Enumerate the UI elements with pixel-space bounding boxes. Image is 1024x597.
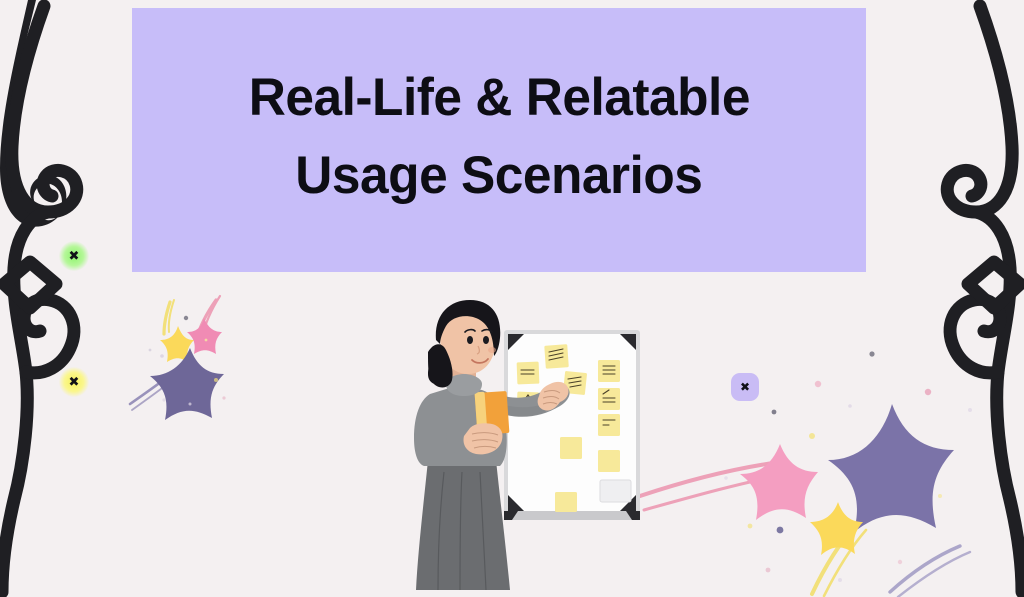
- sparkle-badge-purple: ✖: [731, 373, 759, 401]
- poster-canvas: Real-Life & Relatable Usage Scenarios: [0, 0, 1024, 597]
- ornamental-swirl-divider-right: [904, 0, 1024, 597]
- sparkle-badge-green: ✖: [59, 241, 89, 271]
- sparkle-badge-yellow: ✖: [59, 367, 89, 397]
- title-banner: Real-Life & Relatable Usage Scenarios: [132, 8, 866, 272]
- ornamental-swirl-divider-left: [0, 0, 120, 597]
- woman-placing-sticky-notes-illustration: [400, 300, 660, 597]
- confetti-star-cluster-left: [120, 270, 360, 450]
- page-title-line-1: Real-Life & Relatable: [248, 59, 749, 137]
- page-title-line-2: Usage Scenarios: [295, 137, 702, 215]
- star-purple: [150, 348, 224, 420]
- sparkle-icon: ✖: [69, 250, 80, 263]
- sparkle-icon: ✖: [69, 376, 80, 389]
- star-pink: [740, 444, 818, 520]
- star-yellow: [810, 502, 863, 555]
- star-yellow: [160, 326, 194, 362]
- skirt: [416, 460, 510, 590]
- whiteboard-eraser: [600, 480, 631, 502]
- eye-left: [467, 336, 473, 344]
- sparkle-icon: ✖: [740, 381, 750, 393]
- eye-right: [483, 336, 489, 344]
- star-pink: [187, 318, 222, 354]
- confetti-dots: [149, 316, 226, 406]
